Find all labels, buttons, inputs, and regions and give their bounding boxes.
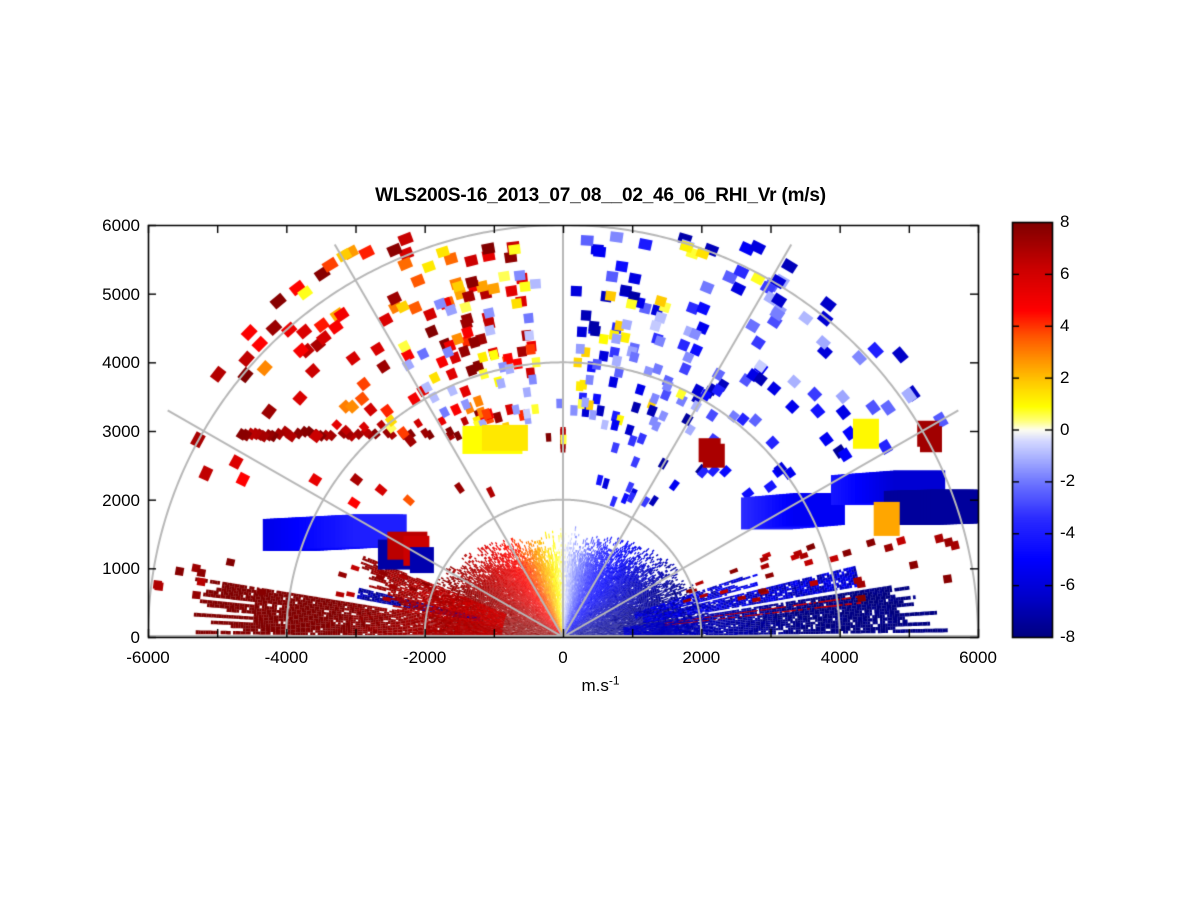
colorbar-tick-label: 8: [1060, 213, 1100, 230]
y-tick-label: 5000: [70, 286, 140, 303]
rhi-velocity-plot-canvas: [0, 0, 1201, 901]
colorbar-tick-label: 2: [1060, 369, 1100, 386]
y-tick-label: 0: [70, 629, 140, 646]
figure-container: WLS200S-16_2013_07_08__02_46_06_RHI_Vr (…: [0, 0, 1201, 901]
x-tick-label: -2000: [380, 649, 470, 666]
colorbar-tick-label: -8: [1060, 628, 1100, 645]
y-tick-label: 3000: [70, 423, 140, 440]
y-tick-label: 6000: [70, 217, 140, 234]
x-tick-label: 4000: [795, 649, 885, 666]
colorbar-tick-label: 6: [1060, 265, 1100, 282]
x-axis-label-exponent: -1: [609, 673, 620, 687]
colorbar-tick-label: 0: [1060, 421, 1100, 438]
colorbar-tick-label: 4: [1060, 317, 1100, 334]
page-title: WLS200S-16_2013_07_08__02_46_06_RHI_Vr (…: [0, 186, 1201, 205]
x-tick-label: 2000: [656, 649, 746, 666]
x-tick-label: 0: [518, 649, 608, 666]
colorbar-tick-label: -4: [1060, 524, 1100, 541]
y-tick-label: 2000: [70, 492, 140, 509]
colorbar-tick-label: -6: [1060, 576, 1100, 593]
y-tick-label: 4000: [70, 354, 140, 371]
x-tick-label: 6000: [933, 649, 1023, 666]
y-tick-label: 1000: [70, 560, 140, 577]
x-axis-label-text: m.s: [581, 676, 608, 695]
x-axis-label: m.s-1: [0, 677, 1201, 694]
colorbar-tick-label: -2: [1060, 472, 1100, 489]
x-tick-label: -4000: [241, 649, 331, 666]
x-tick-label: -6000: [103, 649, 193, 666]
